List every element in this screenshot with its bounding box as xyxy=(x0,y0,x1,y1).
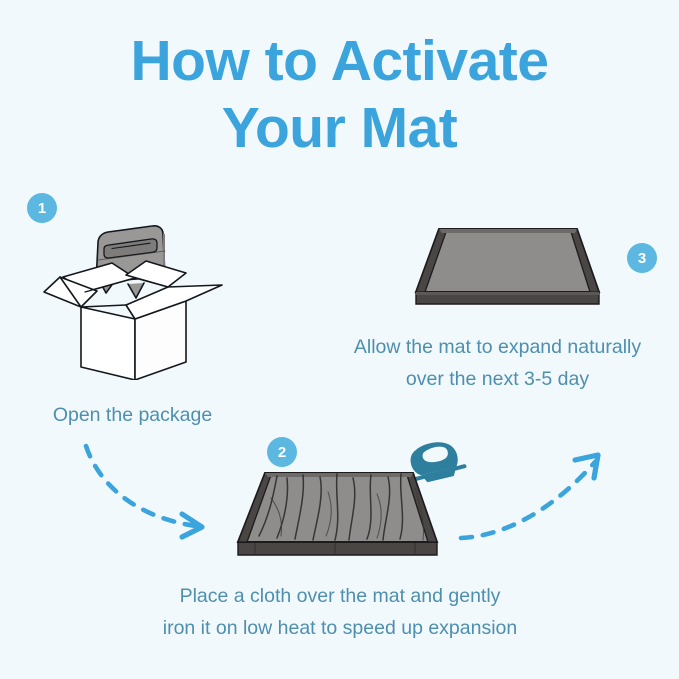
step-badge-3: 3 xyxy=(627,243,657,273)
arrow-step2-to-step3 xyxy=(455,440,615,555)
step-3-caption-line-2: over the next 3-5 day xyxy=(320,364,675,396)
flat-mat-illustration xyxy=(405,220,610,320)
infographic-canvas: How to Activate Your Mat 1 xyxy=(0,0,679,679)
title-line-2: Your Mat xyxy=(0,95,679,162)
step-3-caption: Allow the mat to expand naturally over t… xyxy=(320,332,675,395)
title-line-1: How to Activate xyxy=(0,28,679,95)
page-title: How to Activate Your Mat xyxy=(0,28,679,163)
wrinkled-mat-illustration xyxy=(225,462,450,572)
step-3-caption-line-1: Allow the mat to expand naturally xyxy=(320,332,675,364)
step-1-caption: Open the package xyxy=(0,400,265,432)
arrow-step1-to-step2 xyxy=(78,440,238,555)
step-badge-2-number: 2 xyxy=(278,445,286,460)
step-2-caption-line-2: iron it on low heat to speed up expansio… xyxy=(110,613,570,645)
step-badge-3-number: 3 xyxy=(638,251,646,266)
open-box-illustration xyxy=(40,215,225,385)
step-badge-1-number: 1 xyxy=(38,201,46,216)
step-2-caption-line-1: Place a cloth over the mat and gently xyxy=(110,581,570,613)
step-1-caption-text: Open the package xyxy=(53,404,212,426)
step-2-caption: Place a cloth over the mat and gently ir… xyxy=(110,581,570,644)
